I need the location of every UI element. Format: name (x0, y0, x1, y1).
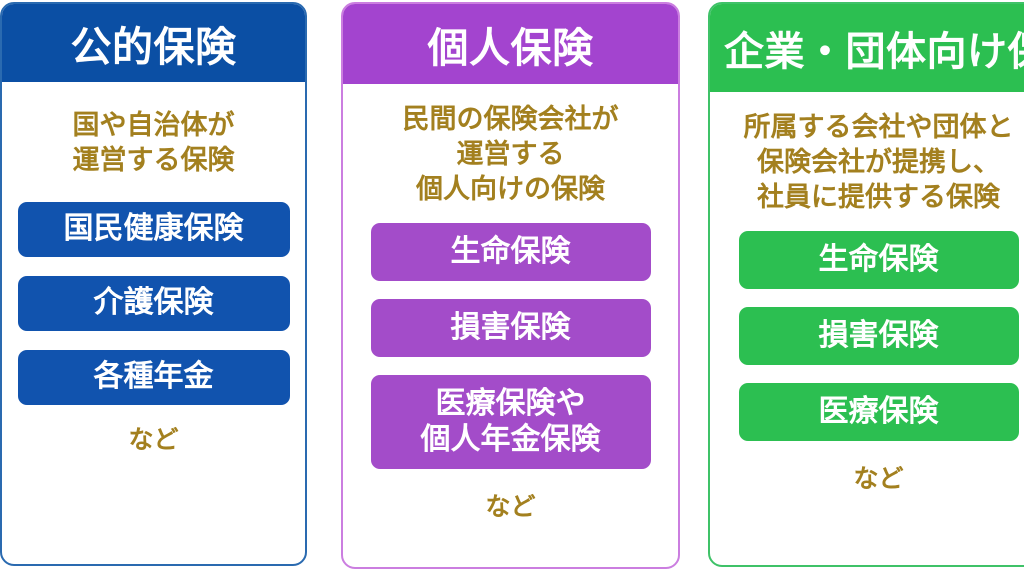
pill-item: 国民健康保険 (18, 202, 290, 257)
pill-item: 医療保険 (739, 383, 1019, 441)
description-line: 社員に提供する保険 (744, 180, 1014, 215)
card-body-personal-insurance: 民間の保険会社が 運営する 個人向けの保険 生命保険 損害保険 医療保険や 個人… (343, 84, 678, 567)
description-line: 保険会社が提携し、 (744, 145, 1014, 180)
pill-item: 医療保険や 個人年金保険 (371, 375, 651, 469)
description-line: 所属する会社や団体と (744, 110, 1014, 145)
card-corporate-insurance: 企業・団体向け保険 所属する会社や団体と 保険会社が提携し、 社員に提供する保険… (708, 2, 1024, 567)
pill-list-corporate-insurance: 生命保険 損害保険 医療保険 (722, 231, 1024, 459)
card-header-corporate-insurance: 企業・団体向け保険 (710, 4, 1024, 92)
pill-item: 生命保険 (371, 223, 651, 281)
card-description-public-insurance: 国や自治体が 運営する保険 (73, 108, 235, 178)
pill-item: 損害保険 (371, 299, 651, 357)
card-header-public-insurance: 公的保険 (2, 4, 305, 82)
insurance-comparison-figure: 公的保険 国や自治体が 運営する保険 国民健康保険 介護保険 各種年金 など 個… (0, 0, 1024, 571)
etc-label-public-insurance: など (128, 420, 178, 456)
etc-label-personal-insurance: など (485, 487, 535, 523)
card-description-personal-insurance: 民間の保険会社が 運営する 個人向けの保険 (403, 102, 619, 207)
pill-list-personal-insurance: 生命保険 損害保険 医療保険や 個人年金保険 (359, 223, 662, 487)
card-personal-insurance: 個人保険 民間の保険会社が 運営する 個人向けの保険 生命保険 損害保険 医療保… (341, 2, 680, 569)
pill-list-public-insurance: 国民健康保険 介護保険 各種年金 (16, 202, 291, 424)
pill-item: 生命保険 (739, 231, 1019, 289)
etc-label-corporate-insurance: など (853, 459, 903, 495)
card-body-public-insurance: 国や自治体が 運営する保険 国民健康保険 介護保険 各種年金 など (2, 82, 305, 564)
card-description-corporate-insurance: 所属する会社や団体と 保険会社が提携し、 社員に提供する保険 (744, 110, 1014, 215)
pill-item: 各種年金 (18, 350, 290, 405)
card-body-corporate-insurance: 所属する会社や団体と 保険会社が提携し、 社員に提供する保険 生命保険 損害保険… (710, 92, 1024, 565)
pill-item: 介護保険 (18, 276, 290, 331)
card-header-personal-insurance: 個人保険 (343, 4, 678, 84)
card-public-insurance: 公的保険 国や自治体が 運営する保険 国民健康保険 介護保険 各種年金 など (0, 2, 307, 566)
pill-item: 損害保険 (739, 307, 1019, 365)
